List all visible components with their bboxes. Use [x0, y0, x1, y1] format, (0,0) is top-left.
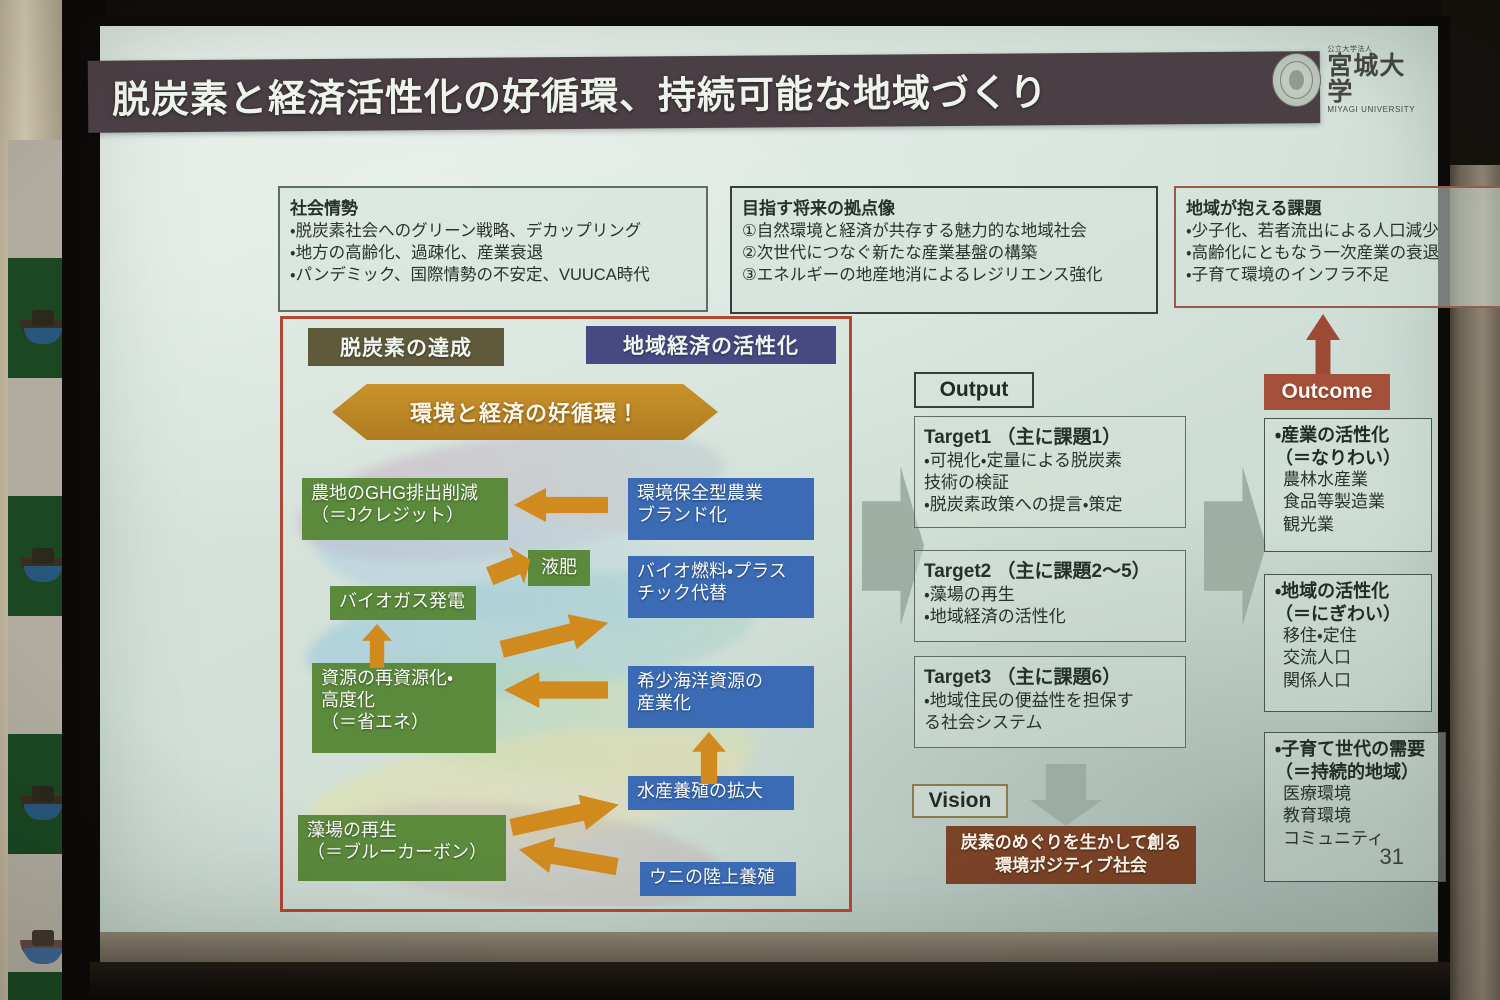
banner-emblem: [20, 930, 66, 978]
info-box-line: ・脱炭素社会へのグリーン戦略、デカップリング: [290, 221, 696, 243]
target-line: ・可視化・定量による脱炭素: [924, 450, 1176, 472]
node-liquid-fertilizer: 液肥: [528, 550, 590, 586]
node-biofuel-plastic-substitute: バイオ燃料・プラス チック代替: [628, 556, 814, 618]
photo-of-projected-slide: 脱炭素と経済活性化の好循環、持続可能な地域づくり 公立大学法人 宮城大学 MIY…: [0, 0, 1500, 1000]
info-box-line: ②次世代につなぐ新たな産業基盤の構築: [742, 243, 1146, 265]
info-box-future-hub-image: 目指す将来の拠点像 ①自然環境と経済が共存する魅力的な地域社会 ②次世代につなぐ…: [730, 186, 1158, 314]
outcome-heading: ・地域の活性化 （＝にぎわい）: [1275, 580, 1421, 625]
tag-decarbonization: 脱炭素の達成: [308, 328, 504, 366]
vision-line-1: 炭素のめぐりを生かして創る: [961, 832, 1182, 855]
info-box-line: ③エネルギーの地産地消によるレジリエンス強化: [742, 265, 1146, 287]
target-box-1: Target1 （主に課題1） ・可視化・定量による脱炭素 技術の検証 ・脱炭素…: [914, 416, 1186, 528]
info-box-heading: 目指す将来の拠点像: [742, 194, 1146, 219]
node-biogas-power: バイオガス発電: [330, 586, 476, 620]
outcome-item: コミュニティ: [1275, 828, 1435, 850]
info-box-heading: 社会情勢: [290, 194, 696, 219]
outcome-box-region: ・地域の活性化 （＝にぎわい） 移住・定住 交流人口 関係人口: [1264, 574, 1432, 712]
node-farmland-ghg-reduction: 農地のGHG排出削減 （＝Jクレジット）: [302, 478, 508, 540]
outcome-item: 移住・定住: [1275, 625, 1421, 647]
label-output: Output: [914, 372, 1034, 408]
target-heading: Target3 （主に課題6）: [924, 662, 1176, 689]
outcome-box-childrearing: ・子育て世代の需要 （＝持続的地域） 医療環境 教育環境 コミュニティ: [1264, 732, 1446, 882]
outcome-item: 食品等製造業: [1275, 491, 1421, 513]
outcome-box-industry: ・産業の活性化 （＝なりわい） 農林水産業 食品等製造業 観光業: [1264, 418, 1432, 552]
info-box-line: ・高齢化にともなう一次産業の衰退: [1186, 243, 1500, 265]
outcome-item: 関係人口: [1275, 670, 1421, 692]
info-box-line: ・パンデミック、国際情勢の不安定、VUUCA時代: [290, 265, 696, 287]
outcome-heading: ・産業の活性化 （＝なりわい）: [1275, 424, 1421, 469]
info-box-line: ・子育て環境のインフラ不足: [1186, 265, 1500, 287]
node-seagrass-restoration: 藻場の再生 （＝ブルーカーボン）: [298, 815, 506, 881]
logo-romaji: MIYAGI UNIVERSITY: [1327, 106, 1422, 114]
banner-emblem: [20, 786, 66, 834]
university-seal-icon: [1272, 53, 1321, 107]
vision-statement-banner: 炭素のめぐりを生かして創る 環境ポジティブ社会: [946, 826, 1196, 884]
info-box-heading: 地域が抱える課題: [1186, 194, 1500, 219]
logo-name: 宮城大学: [1327, 53, 1422, 106]
target-heading: Target2 （主に課題2〜5）: [924, 556, 1176, 583]
target-line: ・藻場の再生: [924, 584, 1176, 606]
room-wall-right-upper: [1442, 0, 1500, 165]
tag-regional-economy: 地域経済の活性化: [586, 326, 836, 364]
label-vision: Vision: [912, 784, 1008, 818]
target-line: 技術の検証: [924, 472, 1176, 494]
info-box-line: ・地方の高齢化、過疎化、産業衰退: [290, 243, 696, 265]
target-line: る社会システム: [924, 712, 1176, 734]
node-rare-marine-resources: 希少海洋資源の 産業化: [628, 666, 814, 728]
target-box-3: Target3 （主に課題6） ・地域住民の便益性を担保す る社会システム: [914, 656, 1186, 748]
banner-emblem: [20, 310, 66, 358]
vision-line-2: 環境ポジティブ社会: [995, 855, 1147, 878]
page-number: 31: [1380, 844, 1404, 870]
target-heading: Target1 （主に課題1）: [924, 422, 1176, 449]
node-urchin-land-aquaculture: ウニの陸上養殖: [640, 862, 796, 896]
node-resource-recycling: 資源の再資源化・ 高度化 （＝省エネ）: [312, 663, 496, 753]
outcome-heading: ・子育て世代の需要 （＝持続的地域）: [1275, 738, 1435, 783]
info-box-regional-issues: 地域が抱える課題 ・少子化、若者流出による人口減少 ・高齢化にともなう一次産業の…: [1174, 186, 1500, 308]
banner-emblem: [20, 548, 66, 596]
arrow-big-down-to-vision-icon: [1030, 764, 1102, 826]
page-title: 脱炭素と経済活性化の好循環、持続可能な地域づくり: [112, 61, 1322, 129]
outcome-item: 教育環境: [1275, 805, 1435, 827]
target-box-2: Target2 （主に課題2〜5） ・藻場の再生 ・地域経済の活性化: [914, 550, 1186, 642]
university-logo: 公立大学法人 宮城大学 MIYAGI UNIVERSITY: [1272, 48, 1422, 112]
info-box-line: ①自然環境と経済が共存する魅力的な地域社会: [742, 221, 1146, 243]
info-box-line: ・少子化、若者流出による人口減少: [1186, 221, 1500, 243]
outcome-item: 農林水産業: [1275, 469, 1421, 491]
outcome-item: 観光業: [1275, 514, 1421, 536]
label-outcome: Outcome: [1264, 374, 1390, 410]
outcome-item: 交流人口: [1275, 647, 1421, 669]
outcome-item: 医療環境: [1275, 783, 1435, 805]
node-eco-farming-branding: 環境保全型農業 ブランド化: [628, 478, 814, 540]
slide-content: 脱炭素と経済活性化の好循環、持続可能な地域づくり 公立大学法人 宮城大学 MIY…: [100, 26, 1438, 932]
arrow-up-to-issues-icon: [1306, 314, 1340, 376]
info-box-social-situation: 社会情勢 ・脱炭素社会へのグリーン戦略、デカップリング ・地方の高齢化、過疎化、…: [278, 186, 708, 312]
hanging-banner: [8, 140, 62, 1000]
target-line: ・地域住民の便益性を担保す: [924, 690, 1176, 712]
target-line: ・地域経済の活性化: [924, 606, 1176, 628]
floor-shadow: [90, 962, 1450, 1000]
target-line: ・脱炭素政策への提言・策定: [924, 494, 1176, 516]
arrow-big-right-to-outcome-icon: [1204, 466, 1266, 626]
banner-virtuous-cycle: 環境と経済の好循環！: [332, 384, 718, 440]
